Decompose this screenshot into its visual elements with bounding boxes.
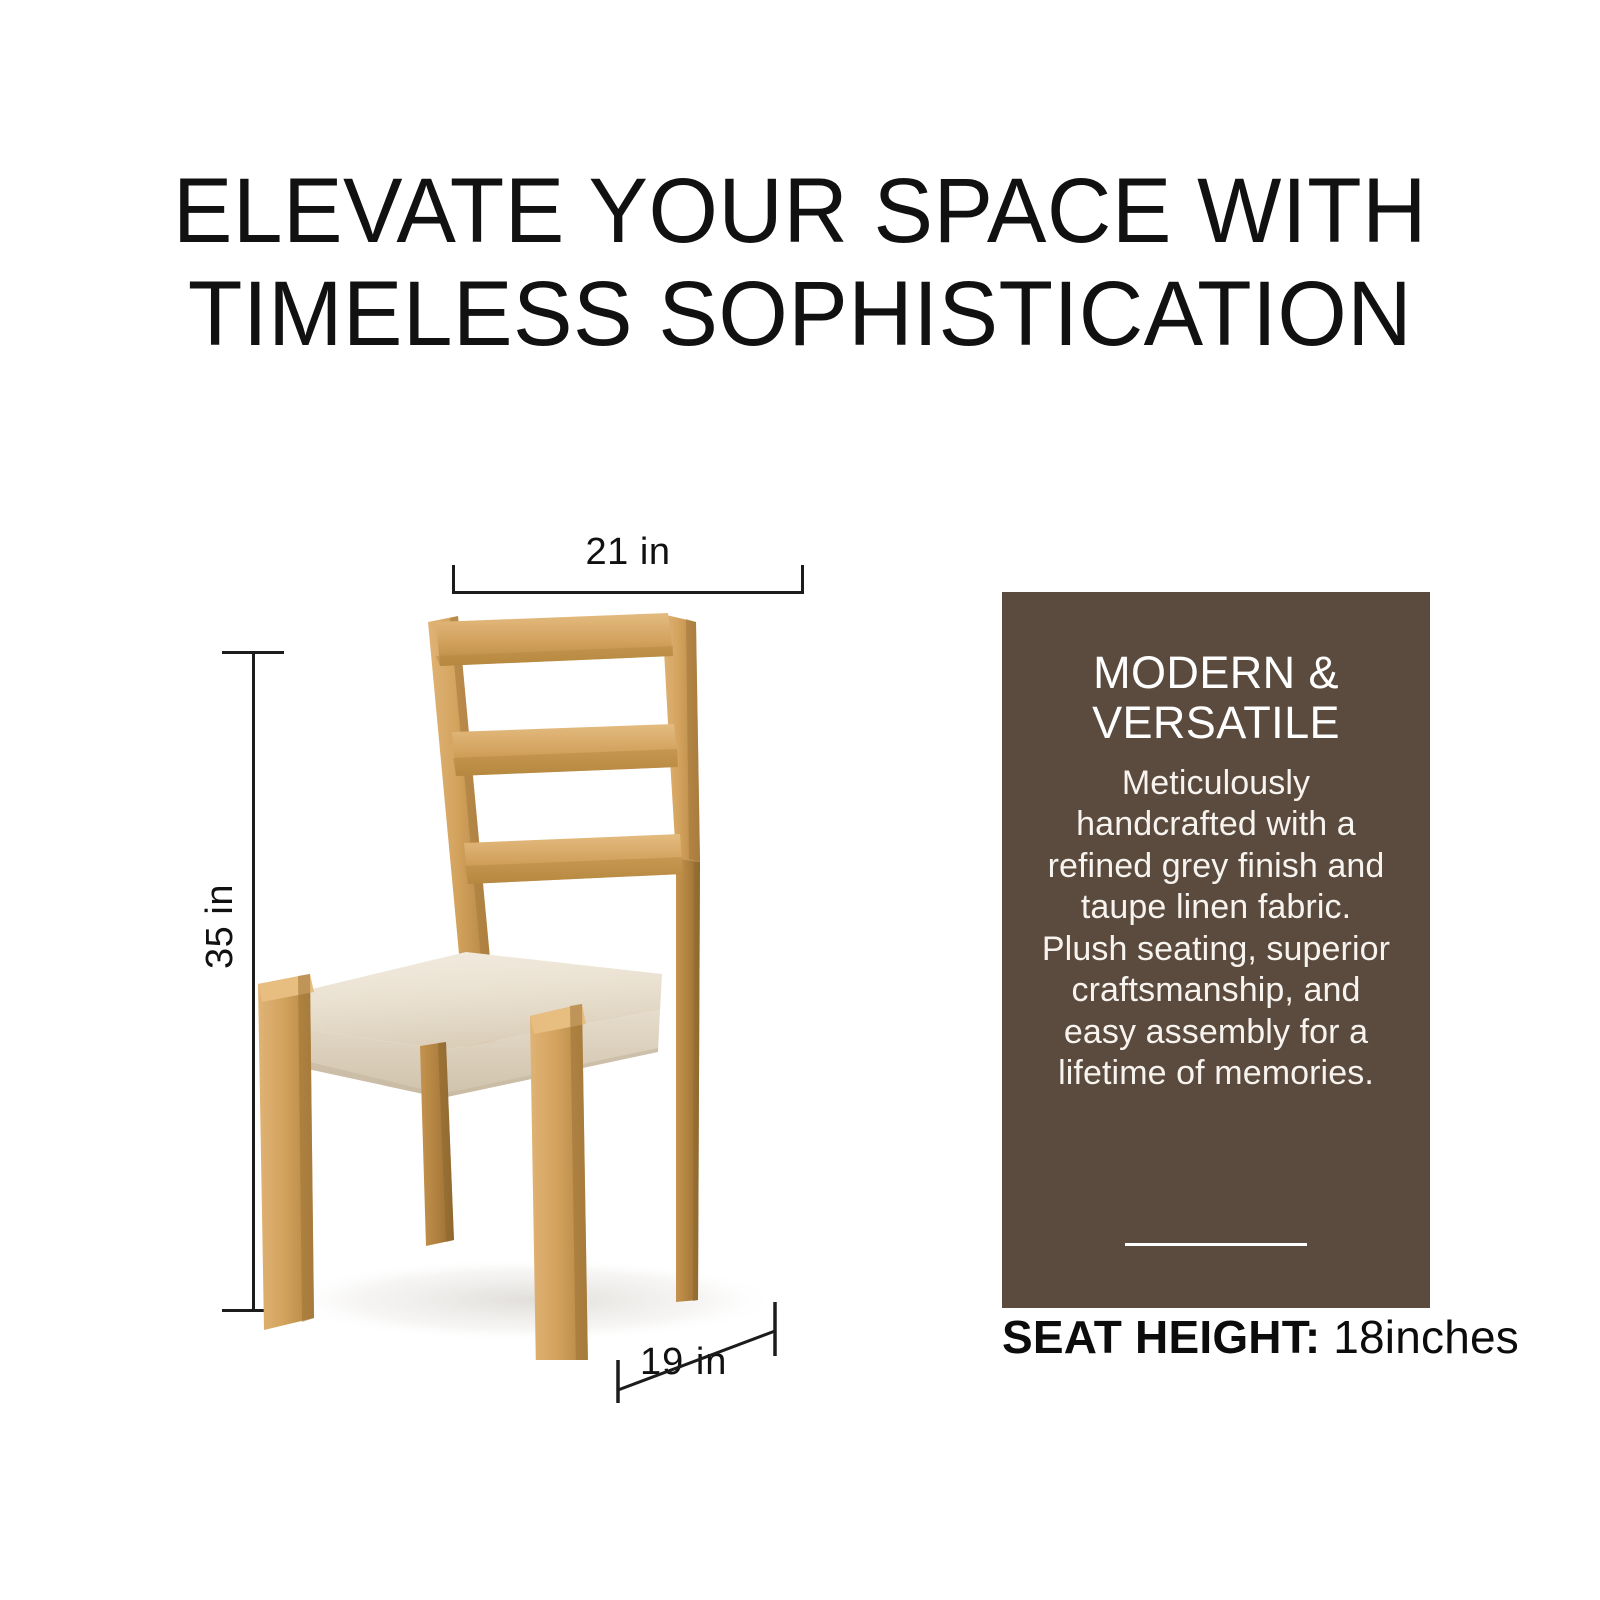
- chair-product-image: [230, 600, 830, 1360]
- width-dimension-tick-right: [801, 565, 804, 594]
- info-panel: MODERN & VERSATILE Meticulously handcraf…: [1002, 592, 1430, 1308]
- info-panel-body: Meticulously handcrafted with a refined …: [1034, 763, 1398, 1095]
- width-dimension-line: [452, 591, 804, 594]
- seat-height-row: SEAT HEIGHT: 18inches: [1002, 1310, 1502, 1364]
- info-panel-divider: [1125, 1243, 1307, 1246]
- chair-leg-back-right-edge: [693, 862, 700, 1301]
- headline-line-2: TIMELESS SOPHISTICATION: [24, 263, 1576, 366]
- floor-shadow: [280, 1258, 780, 1342]
- seat-height-label: SEAT HEIGHT:: [1002, 1311, 1320, 1363]
- width-dimension-tick-left: [452, 565, 455, 594]
- page-title: ELEVATE YOUR SPACE WITH TIMELESS SOPHIST…: [24, 160, 1576, 366]
- width-dimension-label: 21 in: [452, 531, 804, 574]
- headline-line-1: ELEVATE YOUR SPACE WITH: [24, 160, 1576, 263]
- seat-height-value: 18inches: [1333, 1311, 1519, 1363]
- info-panel-heading: MODERN & VERSATILE: [1034, 648, 1398, 749]
- infographic-canvas: ELEVATE YOUR SPACE WITH TIMELESS SOPHIST…: [0, 0, 1600, 1600]
